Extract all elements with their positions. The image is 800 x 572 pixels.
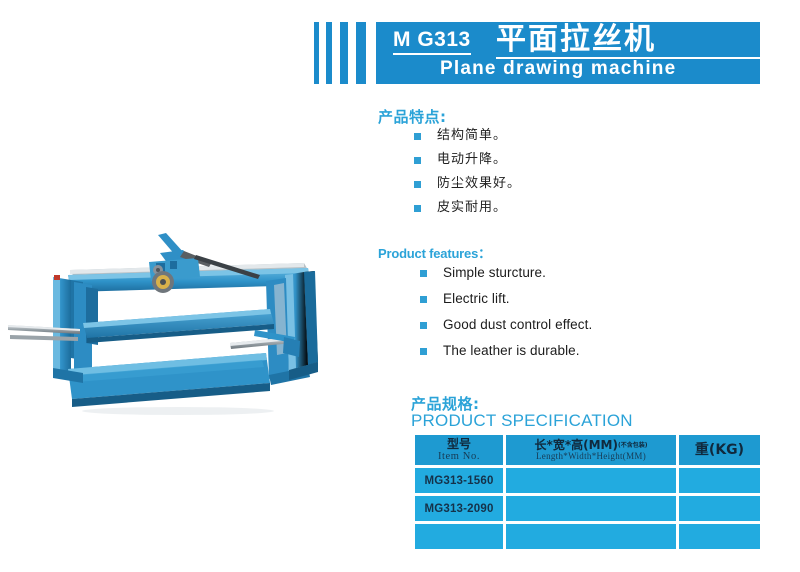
list-item-label: Simple sturcture.: [443, 265, 546, 280]
table-row: [415, 524, 760, 549]
bullet-square-icon: [420, 296, 427, 303]
model-code: M G313: [393, 29, 471, 55]
bullet-square-icon: [420, 270, 427, 277]
header-stripe-4: [356, 22, 366, 84]
column-header-model-en: Item No.: [415, 451, 503, 462]
cell-dimensions: [506, 496, 676, 521]
list-item: 电动升降。: [414, 150, 521, 174]
column-header-weight-cn: 重(KG): [679, 443, 760, 458]
header-stripe-1: [314, 22, 319, 84]
column-header-model: 型号 Item No.: [415, 435, 503, 465]
column-header-dimensions-cn: 长*宽*高(MM)(不含包装): [506, 439, 676, 452]
bullet-square-icon: [414, 181, 421, 188]
list-item: 皮实耐用。: [414, 198, 521, 222]
header-stripe-3: [340, 22, 348, 84]
table-row: MG313-2090: [415, 496, 760, 521]
column-header-dimensions-en: Length*Width*Height(MM): [506, 452, 676, 461]
bullet-square-icon: [414, 205, 421, 212]
cell-model: MG313-1560: [415, 468, 503, 493]
list-item-label: 防尘效果好。: [437, 176, 521, 191]
cell-dimensions: [506, 468, 676, 493]
bullet-square-icon: [420, 322, 427, 329]
list-item: Good dust control effect.: [420, 314, 592, 340]
column-header-dimensions-note: (不含包装): [618, 442, 648, 449]
list-item-label: 电动升降。: [437, 152, 507, 167]
cell-model: MG313-2090: [415, 496, 503, 521]
cell-weight: [679, 468, 760, 493]
features-chinese-heading: 产品特点:: [378, 106, 447, 127]
bullet-square-icon: [420, 348, 427, 355]
column-header-model-cn: 型号: [415, 438, 503, 451]
cell-weight: [679, 524, 760, 549]
list-item: Simple sturcture.: [420, 262, 592, 288]
list-item-label: The leather is durable.: [443, 343, 580, 358]
bullet-square-icon: [414, 157, 421, 164]
list-item-label: Electric lift.: [443, 291, 510, 306]
list-item: The leather is durable.: [420, 340, 592, 366]
header-stripe-2: [326, 22, 332, 84]
column-header-dimensions: 长*宽*高(MM)(不含包装) Length*Width*Height(MM): [506, 435, 676, 465]
features-english-heading: Product features：: [378, 243, 491, 262]
table-row: MG313-1560: [415, 468, 760, 493]
bullet-square-icon: [414, 133, 421, 140]
spec-heading-english: PRODUCT SPECIFICATION: [411, 411, 633, 431]
cell-weight: [679, 496, 760, 521]
column-header-dimensions-cn-main: 长*宽*高(MM): [535, 438, 618, 452]
page-title-english: Plane drawing machine: [440, 59, 676, 80]
plane-drawing-machine-photo: [8, 225, 338, 420]
table-header-row: 型号 Item No. 长*宽*高(MM)(不含包装) Length*Width…: [415, 435, 760, 465]
cell-model: [415, 524, 503, 549]
specification-table: 型号 Item No. 长*宽*高(MM)(不含包装) Length*Width…: [412, 432, 763, 552]
cell-dimensions: [506, 524, 676, 549]
list-item: 防尘效果好。: [414, 174, 521, 198]
features-english-list: Simple sturcture. Electric lift. Good du…: [420, 262, 592, 366]
list-item-label: 结构简单。: [437, 128, 507, 143]
features-chinese-list: 结构简单。 电动升降。 防尘效果好。 皮实耐用。: [414, 126, 521, 222]
list-item: 结构简单。: [414, 126, 521, 150]
page-title-chinese: 平面拉丝机: [496, 24, 656, 56]
column-header-weight: 重(KG): [679, 435, 760, 465]
list-item-label: Good dust control effect.: [443, 317, 592, 332]
list-item: Electric lift.: [420, 288, 592, 314]
page-header: M G313 平面拉丝机 Plane drawing machine: [0, 0, 800, 100]
list-item-label: 皮实耐用。: [437, 200, 507, 215]
